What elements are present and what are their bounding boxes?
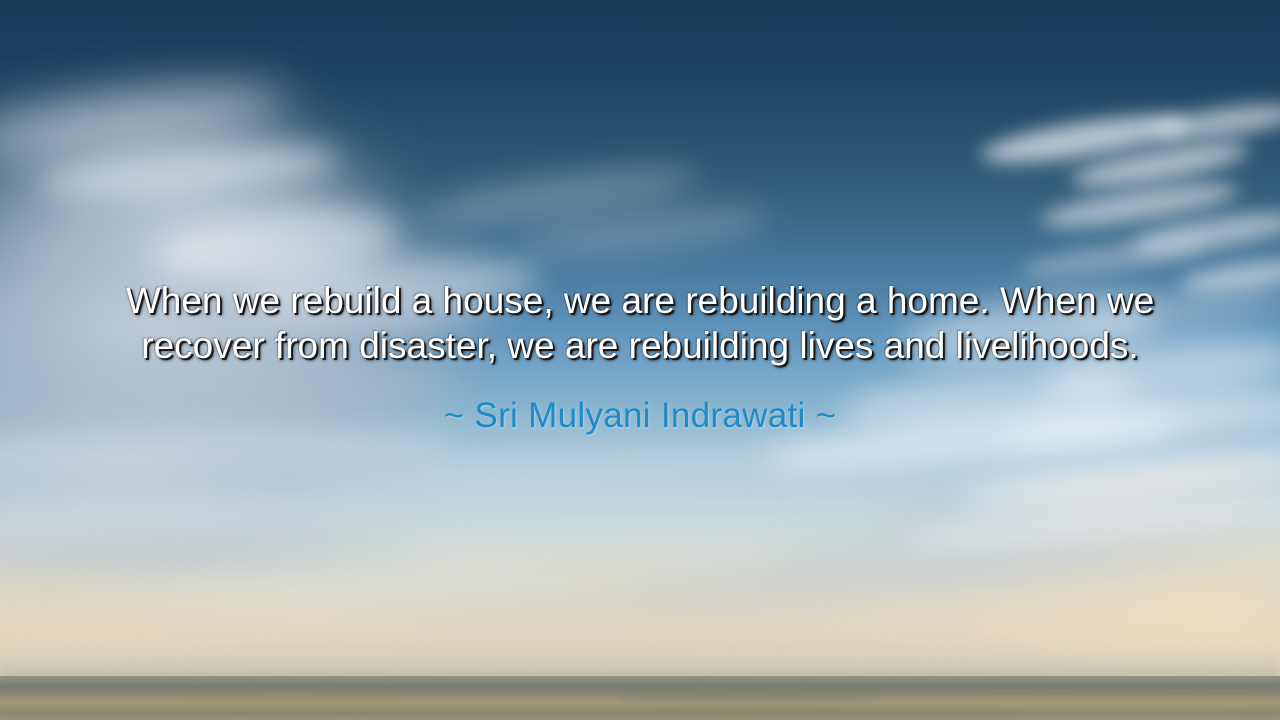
quote-card: When we rebuild a house, we are rebuildi… <box>0 0 1280 720</box>
land-patch-3 <box>980 700 1260 712</box>
land-patch-2 <box>620 690 880 704</box>
cloud-alto-right-6 <box>1019 231 1211 285</box>
quote-text: When we rebuild a house, we are rebuildi… <box>70 278 1210 368</box>
cloud-alto-right-3 <box>1149 98 1280 147</box>
land-patch-1 <box>180 694 400 706</box>
quote-block: When we rebuild a house, we are rebuildi… <box>70 278 1210 436</box>
quote-attribution: ~ Sri Mulyani Indrawati ~ <box>70 368 1210 436</box>
